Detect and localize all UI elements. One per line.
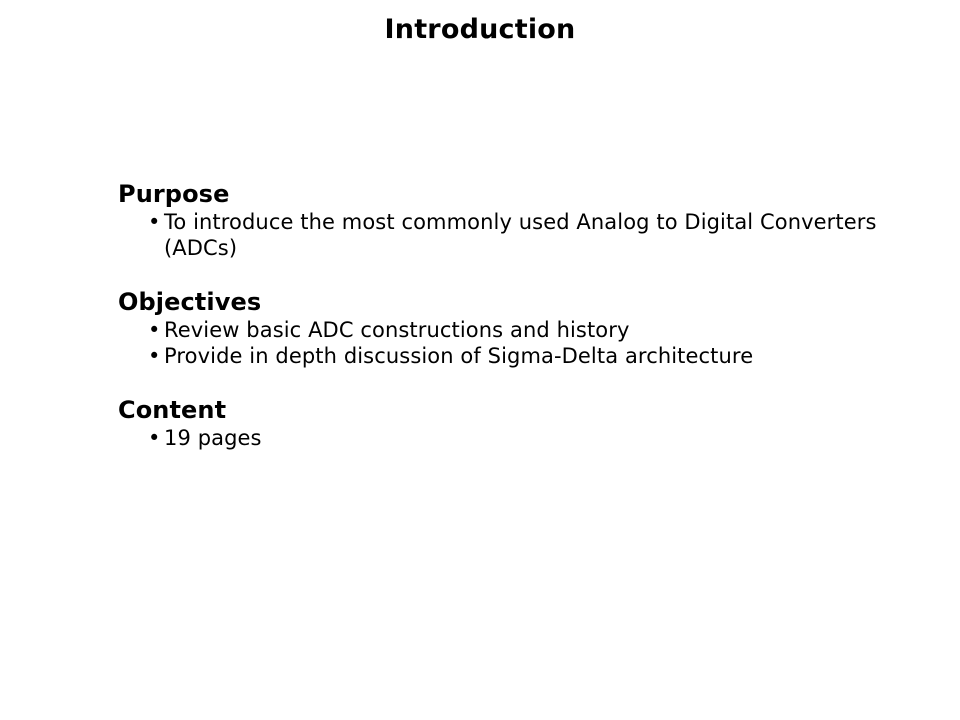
bullet-icon: • — [148, 318, 161, 344]
slide-body: Purpose • To introduce the most commonly… — [118, 180, 878, 453]
section-heading-objectives: Objectives — [118, 288, 878, 316]
list-item-text: Provide in depth discussion of Sigma-Del… — [164, 344, 753, 368]
section-heading-content: Content — [118, 396, 878, 424]
slide-canvas: Introduction Purpose • To introduce the … — [0, 0, 960, 720]
list-item: • Review basic ADC constructions and his… — [118, 318, 878, 344]
list-item-text: 19 pages — [164, 426, 262, 450]
bullet-list-objectives: • Review basic ADC constructions and his… — [118, 318, 878, 370]
bullet-list-purpose: • To introduce the most commonly used An… — [118, 210, 878, 261]
list-item-text: To introduce the most commonly used Anal… — [164, 210, 877, 260]
bullet-icon: • — [148, 426, 161, 452]
section-objectives: Objectives • Review basic ADC constructi… — [118, 288, 878, 371]
list-item: • Provide in depth discussion of Sigma-D… — [118, 344, 878, 370]
bullet-list-content: • 19 pages — [118, 426, 878, 452]
section-purpose: Purpose • To introduce the most commonly… — [118, 180, 878, 262]
list-item: • 19 pages — [118, 426, 878, 452]
bullet-icon: • — [148, 344, 161, 370]
list-item-text: Review basic ADC constructions and histo… — [164, 318, 630, 342]
section-heading-purpose: Purpose — [118, 180, 878, 208]
page-title: Introduction — [0, 14, 960, 46]
bullet-icon: • — [148, 210, 161, 236]
list-item: • To introduce the most commonly used An… — [118, 210, 878, 261]
section-content: Content • 19 pages — [118, 396, 878, 452]
